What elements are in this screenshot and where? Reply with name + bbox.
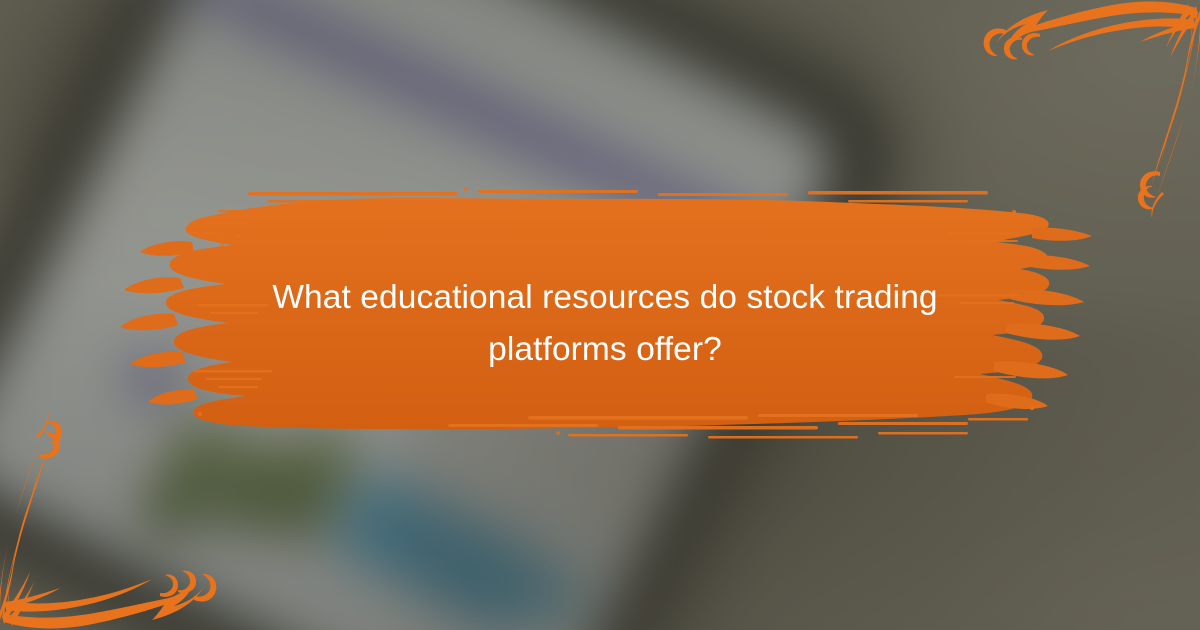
page-title: What educational resources do stock trad… bbox=[200, 272, 1010, 376]
social-card: What educational resources do stock trad… bbox=[0, 0, 1200, 630]
